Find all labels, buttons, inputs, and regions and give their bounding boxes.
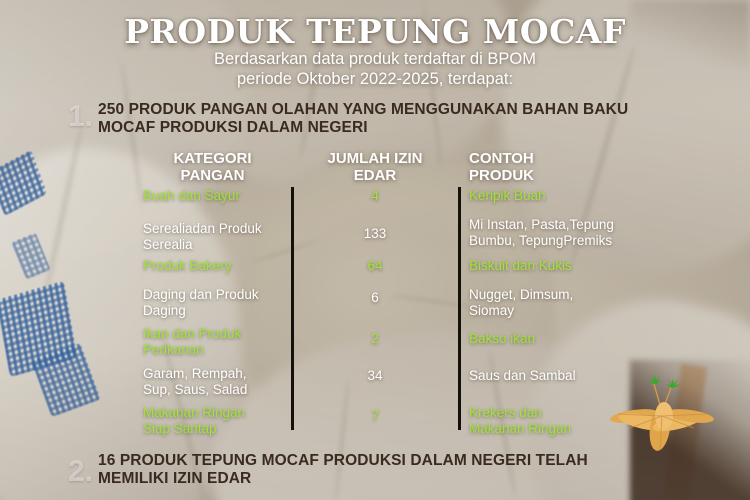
table-row: Makanan Ringan Siap Santap xyxy=(143,405,293,436)
cell-category: Perikanan xyxy=(143,342,288,358)
subtitle-line-1: Berdasarkan data produk terdaftar di BPO… xyxy=(0,49,750,69)
header-count-line-2: EDAR xyxy=(300,167,450,184)
table-header-count: JUMLAH IZIN EDAR xyxy=(300,150,450,184)
header-count-line-1: JUMLAH IZIN xyxy=(300,150,450,167)
cell-category: Daging dan Produk xyxy=(143,287,288,303)
cell-example-line: Keripik Buah xyxy=(469,188,639,204)
stat-2-line-1: 16 PRODUK TEPUNG MOCAF PRODUKSI DALAM NE… xyxy=(98,452,708,470)
cell-example-line: Bumbu, TepungPremiks xyxy=(469,233,649,249)
cell-count: 7 xyxy=(305,408,445,424)
cell-count: 6 xyxy=(305,290,445,306)
cell-example: Biskuit dan Kukis xyxy=(469,258,649,274)
cell-category: Serealiadan Produk xyxy=(143,221,288,237)
table-header-example: CONTOH PRODUK xyxy=(469,150,629,184)
cell-example: Nugget, Dimsum, Siomay xyxy=(469,287,649,318)
cell-example-line: Nugget, Dimsum, xyxy=(469,287,649,303)
cell-example-line: Mi Instan, Pasta,Tepung xyxy=(469,217,649,233)
table-row: Produk Bakery xyxy=(143,258,288,274)
stat-1-line-1: 250 PRODUK PANGAN OLAHAN YANG MENGGUNAKA… xyxy=(98,101,698,119)
table-header-category: KATEGORI PANGAN xyxy=(135,150,290,184)
cell-example: Bakso ikan xyxy=(469,331,649,347)
cell-count: 64 xyxy=(305,258,445,274)
cell-category: Daging xyxy=(143,303,288,319)
cell-category: Makanan Ringan xyxy=(143,405,293,421)
cell-category: Ikan dan Produk xyxy=(143,326,288,342)
stat-text-1: 250 PRODUK PANGAN OLAHAN YANG MENGGUNAKA… xyxy=(98,101,698,137)
stat-text-2: 16 PRODUK TEPUNG MOCAF PRODUKSI DALAM NE… xyxy=(98,452,708,488)
stat-marker-2: 2. xyxy=(68,455,93,489)
cell-example-line: Bakso ikan xyxy=(469,331,649,347)
header-category-line-1: KATEGORI xyxy=(135,150,290,167)
cell-example: Keripik Buah xyxy=(469,188,639,204)
cell-category: Garam, Rempah, xyxy=(143,366,293,382)
cell-category: Buah dan Sayur xyxy=(143,188,288,204)
cell-category: Serealia xyxy=(143,237,288,253)
header-example-line-2: PRODUK xyxy=(469,167,629,184)
cell-category: Produk Bakery xyxy=(143,258,288,274)
stat-marker-1: 1. xyxy=(68,100,93,134)
page-title: PRODUK TEPUNG MOCAF xyxy=(0,12,750,51)
cell-example-line: Biskuit dan Kukis xyxy=(469,258,649,274)
subtitle-line-2: periode Oktober 2022-2025, terdapat: xyxy=(0,69,750,89)
cell-count: 2 xyxy=(305,331,445,347)
cell-category: Siap Santap xyxy=(143,421,293,437)
table-row: Ikan dan Produk Perikanan xyxy=(143,326,288,357)
cell-count: 133 xyxy=(305,226,445,242)
cell-category: Sup, Saus, Salad xyxy=(143,382,293,398)
table-row: Buah dan Sayur xyxy=(143,188,288,204)
cell-example-line: Siomay xyxy=(469,303,649,319)
stat-2-line-2: MEMILIKI IZIN EDAR xyxy=(98,470,708,488)
table-row: Daging dan Produk Daging xyxy=(143,287,288,318)
header-example-line-1: CONTOH xyxy=(469,150,629,167)
column-divider-right xyxy=(458,187,461,430)
stat-1-line-2: MOCAF PRODUKSI DALAM NEGERI xyxy=(98,119,698,137)
table-row: Garam, Rempah, Sup, Saus, Salad xyxy=(143,366,293,397)
cell-example: Mi Instan, Pasta,Tepung Bumbu, TepungPre… xyxy=(469,217,649,248)
page-subtitle: Berdasarkan data produk terdaftar di BPO… xyxy=(0,49,750,89)
cell-count: 34 xyxy=(305,368,445,384)
cassava-leaf-icon xyxy=(608,372,718,457)
header-category-line-2: PANGAN xyxy=(135,167,290,184)
cell-count: 4 xyxy=(305,188,445,204)
table-row: Serealiadan Produk Serealia xyxy=(143,221,288,252)
